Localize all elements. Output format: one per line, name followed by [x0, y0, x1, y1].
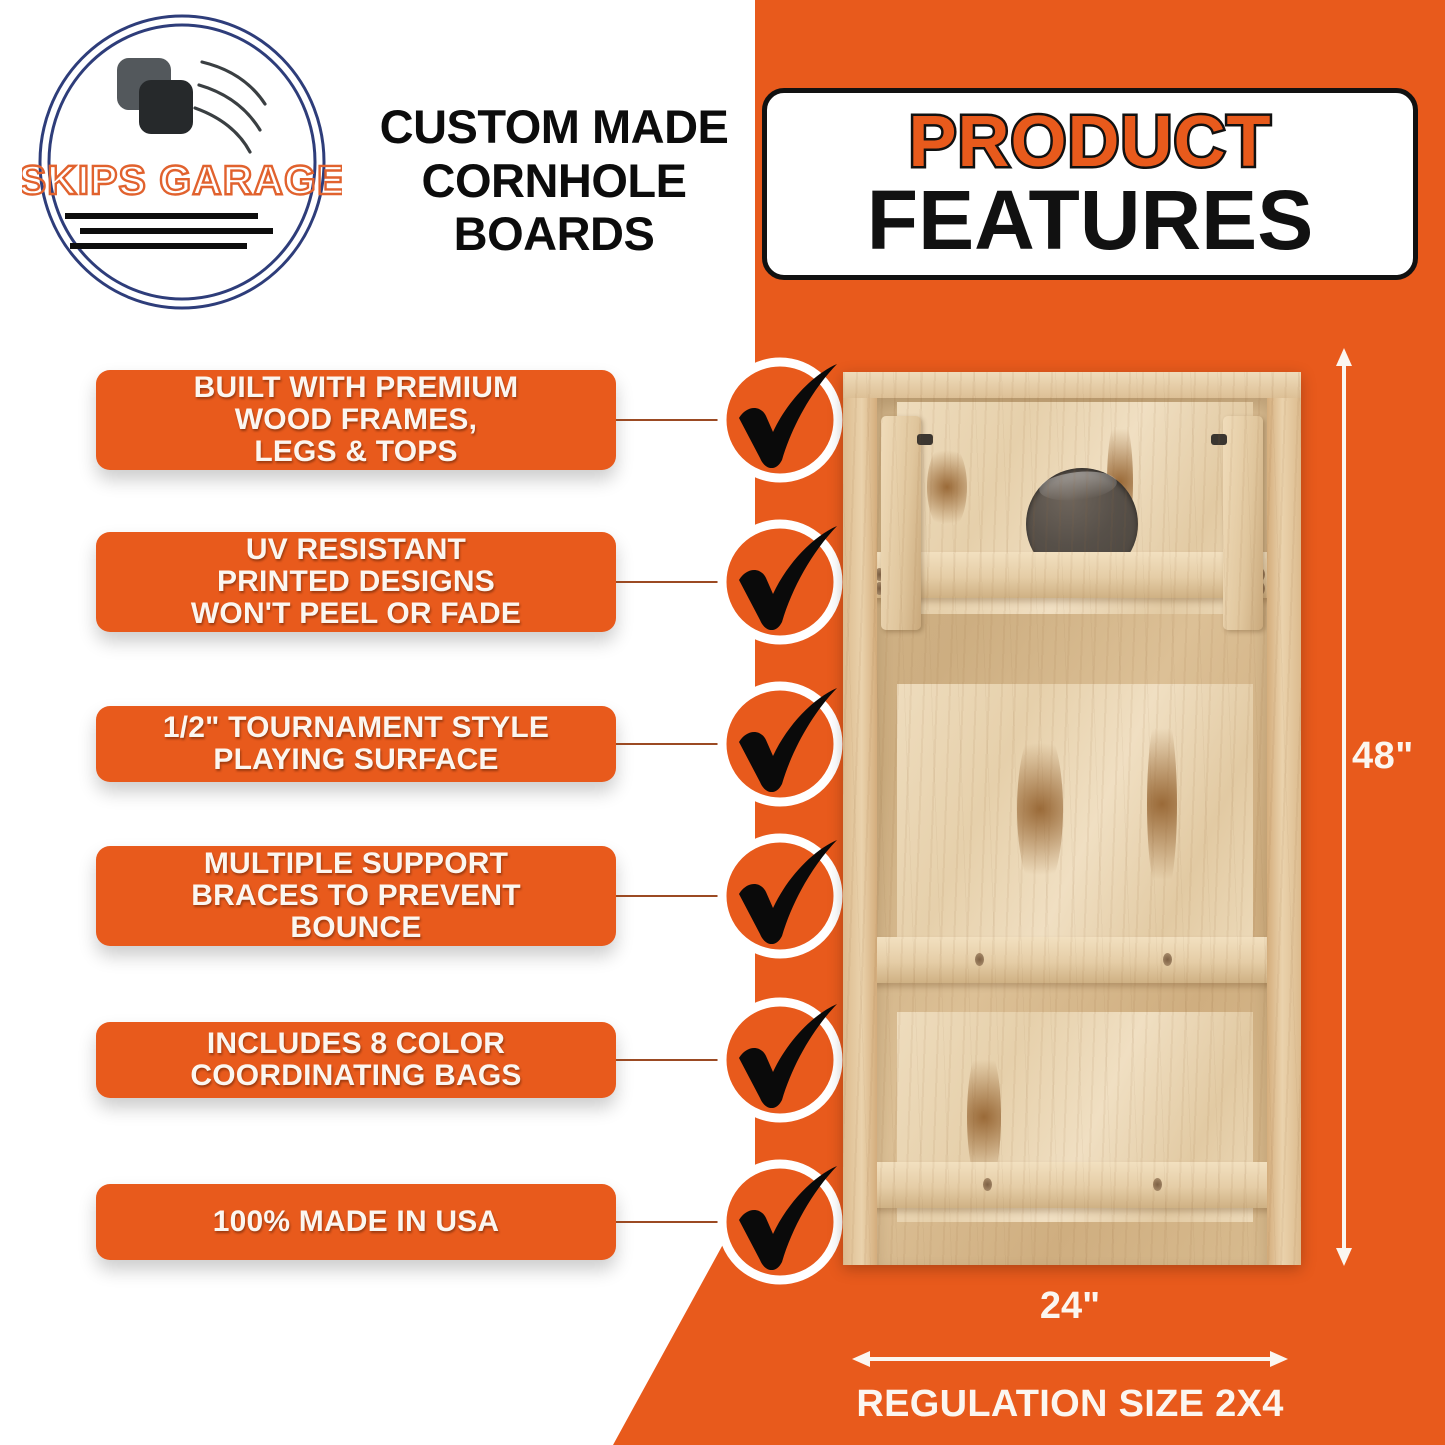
check-icon [716, 832, 844, 960]
check-icon [716, 996, 844, 1124]
feature-text-line: BOUNCE [191, 912, 521, 944]
feature-pill-text: UV RESISTANTPRINTED DESIGNSWON'T PEEL OR… [191, 534, 521, 629]
feature-text-line: BUILT WITH PREMIUM [194, 372, 519, 404]
wood-grain-overlay [843, 372, 1301, 1265]
connector-line [616, 743, 722, 745]
cornhole-board-image [843, 372, 1301, 1265]
feature-pill[interactable]: 100% MADE IN USA [96, 1184, 616, 1260]
header-word-features: FEATURES [867, 179, 1313, 261]
feature-row: MULTIPLE SUPPORTBRACES TO PREVENTBOUNCE [96, 836, 820, 976]
check-icon [716, 356, 844, 484]
height-dimension-label: 48" [1352, 735, 1414, 778]
feature-text-line: INCLUDES 8 COLOR [190, 1028, 521, 1060]
product-features-header-card: PRODUCT FEATURES [762, 88, 1418, 280]
feature-text-line: PRINTED DESIGNS [191, 566, 521, 598]
check-icon [716, 1158, 844, 1286]
feature-pill[interactable]: UV RESISTANTPRINTED DESIGNSWON'T PEEL OR… [96, 532, 616, 632]
logo-wordmark: SKIPS GARAGE [22, 157, 342, 203]
feature-text-line: WOOD FRAMES, [194, 404, 519, 436]
feature-pill-text: 100% MADE IN USA [213, 1206, 500, 1238]
feature-row: UV RESISTANTPRINTED DESIGNSWON'T PEEL OR… [96, 522, 820, 662]
title-line-3: BOARDS [352, 207, 756, 261]
feature-text-line: 1/2" TOURNAMENT STYLE [163, 712, 549, 744]
feature-row: BUILT WITH PREMIUMWOOD FRAMES,LEGS & TOP… [96, 360, 820, 500]
feature-pill[interactable]: 1/2" TOURNAMENT STYLEPLAYING SURFACE [96, 706, 616, 782]
connector-line [616, 1059, 722, 1061]
feature-pill-text: BUILT WITH PREMIUMWOOD FRAMES,LEGS & TOP… [194, 372, 519, 467]
feature-pill[interactable]: MULTIPLE SUPPORTBRACES TO PREVENTBOUNCE [96, 846, 616, 946]
height-dimension-arrow [1332, 348, 1356, 1266]
logo-graphic: SKIPS GARAGE [22, 12, 342, 312]
width-dimension-arrow [852, 1348, 1288, 1370]
page-title: CUSTOM MADE CORNHOLE BOARDS [352, 100, 756, 261]
infographic-canvas: SKIPS GARAGE CUSTOM MADE CORNHOLE BOARDS… [0, 0, 1445, 1445]
regulation-size-note: REGULATION SIZE 2X4 [780, 1383, 1360, 1426]
feature-text-line: UV RESISTANT [191, 534, 521, 566]
connector-line [616, 895, 722, 897]
feature-text-line: BRACES TO PREVENT [191, 880, 521, 912]
feature-text-line: MULTIPLE SUPPORT [191, 848, 521, 880]
feature-text-line: WON'T PEEL OR FADE [191, 598, 521, 630]
feature-row: 100% MADE IN USA [96, 1162, 820, 1302]
feature-text-line: LEGS & TOPS [194, 436, 519, 468]
feature-pill-text: INCLUDES 8 COLORCOORDINATING BAGS [190, 1028, 521, 1092]
brand-logo: SKIPS GARAGE [22, 12, 342, 312]
feature-text-line: 100% MADE IN USA [213, 1206, 500, 1238]
feature-pill-text: 1/2" TOURNAMENT STYLEPLAYING SURFACE [163, 712, 549, 776]
connector-line [616, 581, 722, 583]
feature-pill[interactable]: INCLUDES 8 COLORCOORDINATING BAGS [96, 1022, 616, 1098]
feature-pill-text: MULTIPLE SUPPORTBRACES TO PREVENTBOUNCE [191, 848, 521, 943]
check-icon [716, 680, 844, 808]
connector-line [616, 419, 722, 421]
header-word-product: PRODUCT [909, 107, 1272, 178]
title-line-2: CORNHOLE [352, 154, 756, 208]
feature-pill[interactable]: BUILT WITH PREMIUMWOOD FRAMES,LEGS & TOP… [96, 370, 616, 470]
check-icon [716, 518, 844, 646]
feature-row: INCLUDES 8 COLORCOORDINATING BAGS [96, 1000, 820, 1140]
title-line-1: CUSTOM MADE [352, 100, 756, 154]
connector-line [616, 1221, 722, 1223]
feature-text-line: PLAYING SURFACE [163, 744, 549, 776]
feature-row: 1/2" TOURNAMENT STYLEPLAYING SURFACE [96, 684, 820, 824]
width-dimension-label: 24" [852, 1285, 1288, 1328]
feature-text-line: COORDINATING BAGS [190, 1060, 521, 1092]
